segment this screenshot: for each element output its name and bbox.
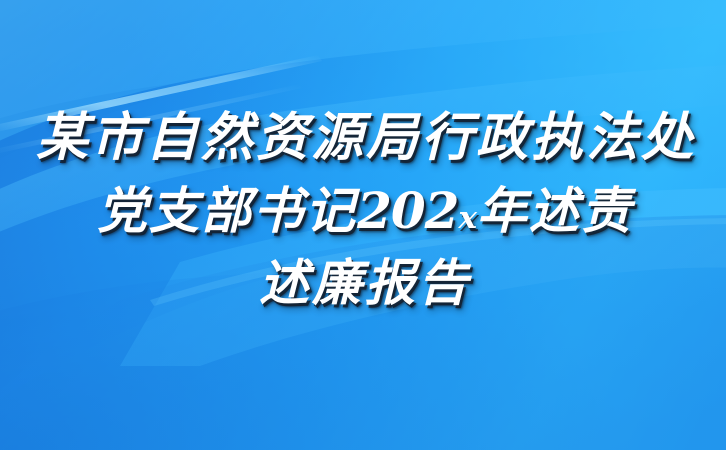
title-line-2: 党支部书记202x年述责	[0, 186, 726, 236]
title-year-placeholder: x	[458, 200, 476, 236]
title-year-number: 202	[357, 181, 458, 240]
title-line-2-prefix: 党支部书记	[97, 181, 357, 240]
poster-canvas: 某市自然资源局行政执法处 党支部书记202x年述责 述廉报告	[0, 0, 726, 450]
poster-title-block: 某市自然资源局行政执法处 党支部书记202x年述责 述廉报告	[0, 112, 726, 308]
title-line-2-suffix: 年述责	[477, 181, 633, 240]
title-line-3: 述廉报告	[0, 258, 726, 308]
title-line-1: 某市自然资源局行政执法处	[0, 112, 726, 164]
